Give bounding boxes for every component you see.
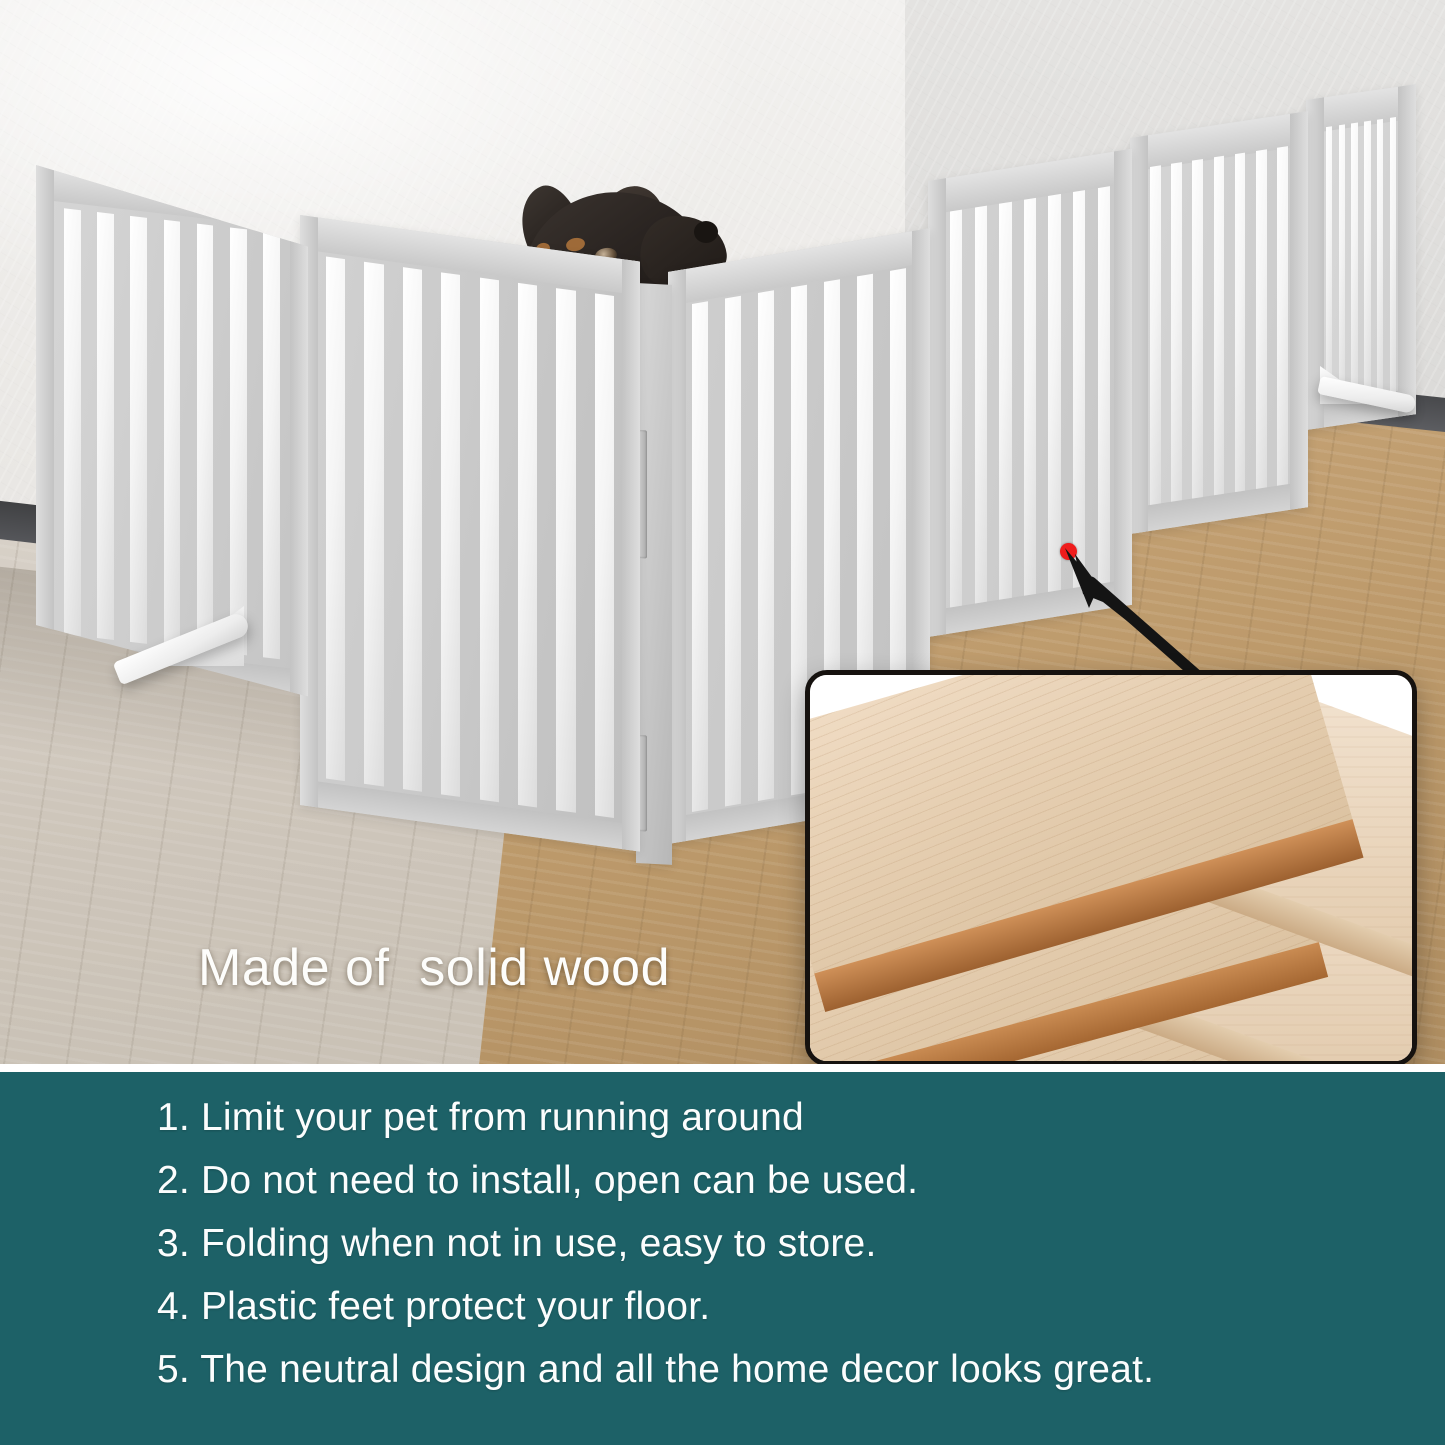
gate-slat (556, 288, 575, 813)
gate-slat (595, 293, 614, 818)
features-band: 1. Limit your pet from running around 2.… (0, 1072, 1445, 1445)
gate-slat (999, 202, 1011, 600)
gate-slat (1390, 117, 1396, 394)
panel-slats (64, 208, 280, 659)
panel-slats (950, 186, 1110, 607)
gate-slat (1326, 126, 1332, 403)
gate-slat (1171, 162, 1182, 502)
room-scene-photo: Made of solid wood (0, 0, 1445, 1068)
gate-slat (403, 267, 422, 792)
gate-slat (263, 231, 280, 659)
gate-slat (975, 206, 987, 604)
gate-slat (164, 220, 181, 648)
list-item: 1. Limit your pet from running around (157, 1086, 1405, 1149)
panel-frame-left (36, 165, 54, 667)
gate-slat (97, 212, 114, 640)
gate-panel-2 (300, 215, 640, 852)
gate-slat (441, 272, 460, 797)
gate-panel-5 (928, 149, 1132, 637)
gate-slat (326, 257, 345, 782)
gate-slat (364, 262, 383, 787)
plastic-foot-right (1318, 366, 1416, 426)
gate-slat (950, 210, 962, 608)
gate-slat (1098, 186, 1110, 584)
plastic-foot-left (112, 600, 252, 696)
panel-frame-left (928, 178, 946, 637)
panel-slats (326, 257, 614, 818)
gate-slat (230, 227, 247, 655)
gate-slat (1192, 159, 1203, 499)
panel-slats (1326, 117, 1396, 403)
gate-slat (1377, 119, 1383, 396)
gate-slat (518, 283, 537, 808)
list-item: 5. The neutral design and all the home d… (157, 1338, 1405, 1401)
panel-frame-right (290, 194, 308, 696)
callout-red-dot (1060, 543, 1077, 560)
gate-slat (130, 216, 147, 644)
gate-slat (1351, 123, 1357, 400)
gate-slat (1048, 194, 1060, 592)
list-item: 2. Do not need to install, open can be u… (157, 1149, 1405, 1212)
gate-slat (1235, 153, 1246, 493)
gate-panel-6 (1130, 111, 1308, 534)
product-marketing-image: Made of solid wood (0, 0, 1445, 1445)
gate-slat (725, 296, 741, 807)
gate-slat (1364, 121, 1370, 398)
gate-slat (1339, 124, 1345, 401)
gate-slat (1073, 190, 1085, 588)
gate-slat (1277, 146, 1288, 486)
gate-slat (197, 224, 214, 652)
gate-slat (64, 208, 81, 636)
gate-slat (1214, 156, 1225, 496)
panel-frame-right (1290, 111, 1308, 510)
made-of-solid-wood-caption: Made of solid wood (198, 938, 670, 998)
wood-boards-image (810, 675, 1412, 1061)
gate-slat (1150, 165, 1161, 505)
dog-nose (694, 221, 718, 243)
panel-slats (1150, 146, 1288, 505)
gate-slat (692, 301, 708, 812)
section-divider (0, 1064, 1445, 1072)
list-item: 4. Plastic feet protect your floor. (157, 1275, 1405, 1338)
panel-frame-right (1114, 149, 1132, 608)
list-item: 3. Folding when not in use, easy to stor… (157, 1212, 1405, 1275)
gate-slat (1256, 149, 1267, 489)
gate-slat (480, 278, 499, 803)
panel-frame-left (1130, 135, 1148, 534)
feature-list: 1. Limit your pet from running around 2.… (157, 1086, 1405, 1401)
solid-wood-inset-photo (805, 670, 1417, 1066)
gate-slat (1024, 198, 1036, 596)
gate-slat (758, 290, 774, 801)
panel-frame-right (622, 259, 640, 851)
